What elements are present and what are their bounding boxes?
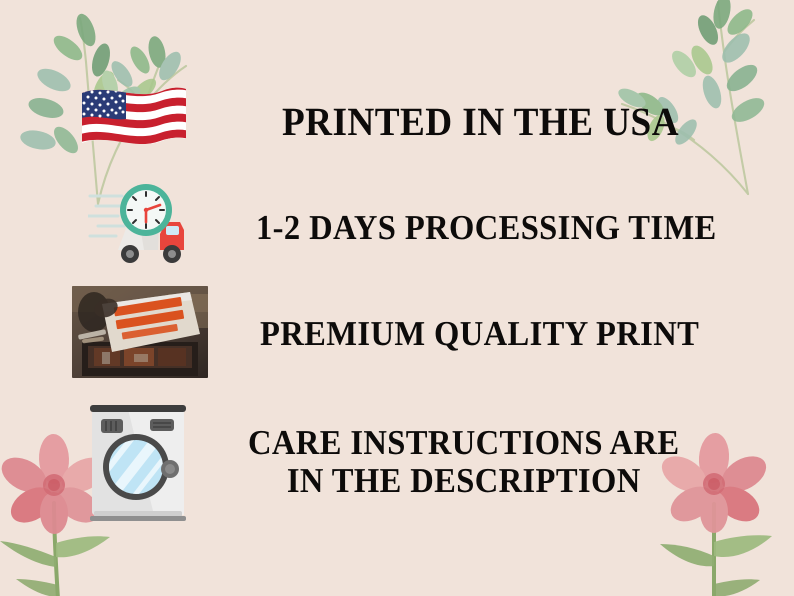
feature-label-premium-quality: PREMIUM QUALITY PRINT — [260, 315, 699, 353]
feature-row-care-instructions: CARE INSTRUCTIONS ARE IN THE DESCRIPTION — [0, 392, 794, 532]
feature-label-printed-in-usa: PRINTED IN THE USA — [282, 100, 679, 143]
screen-print-photo — [72, 286, 208, 383]
feature-row-premium-quality: PREMIUM QUALITY PRINT — [0, 286, 794, 382]
usa-flag-icon — [78, 79, 190, 166]
feature-label-care-instructions: CARE INSTRUCTIONS ARE IN THE DESCRIPTION — [248, 424, 679, 500]
feature-row-processing-time: 1-2 DAYS PROCESSING TIME — [0, 180, 794, 276]
feature-row-printed-in-usa: PRINTED IN THE USA — [0, 72, 794, 172]
product-info-graphic: PRINTED IN THE USA — [0, 0, 794, 596]
feature-label-processing-time: 1-2 DAYS PROCESSING TIME — [256, 209, 717, 247]
fast-delivery-clock-icon — [88, 180, 198, 277]
washing-machine-icon — [84, 395, 196, 530]
